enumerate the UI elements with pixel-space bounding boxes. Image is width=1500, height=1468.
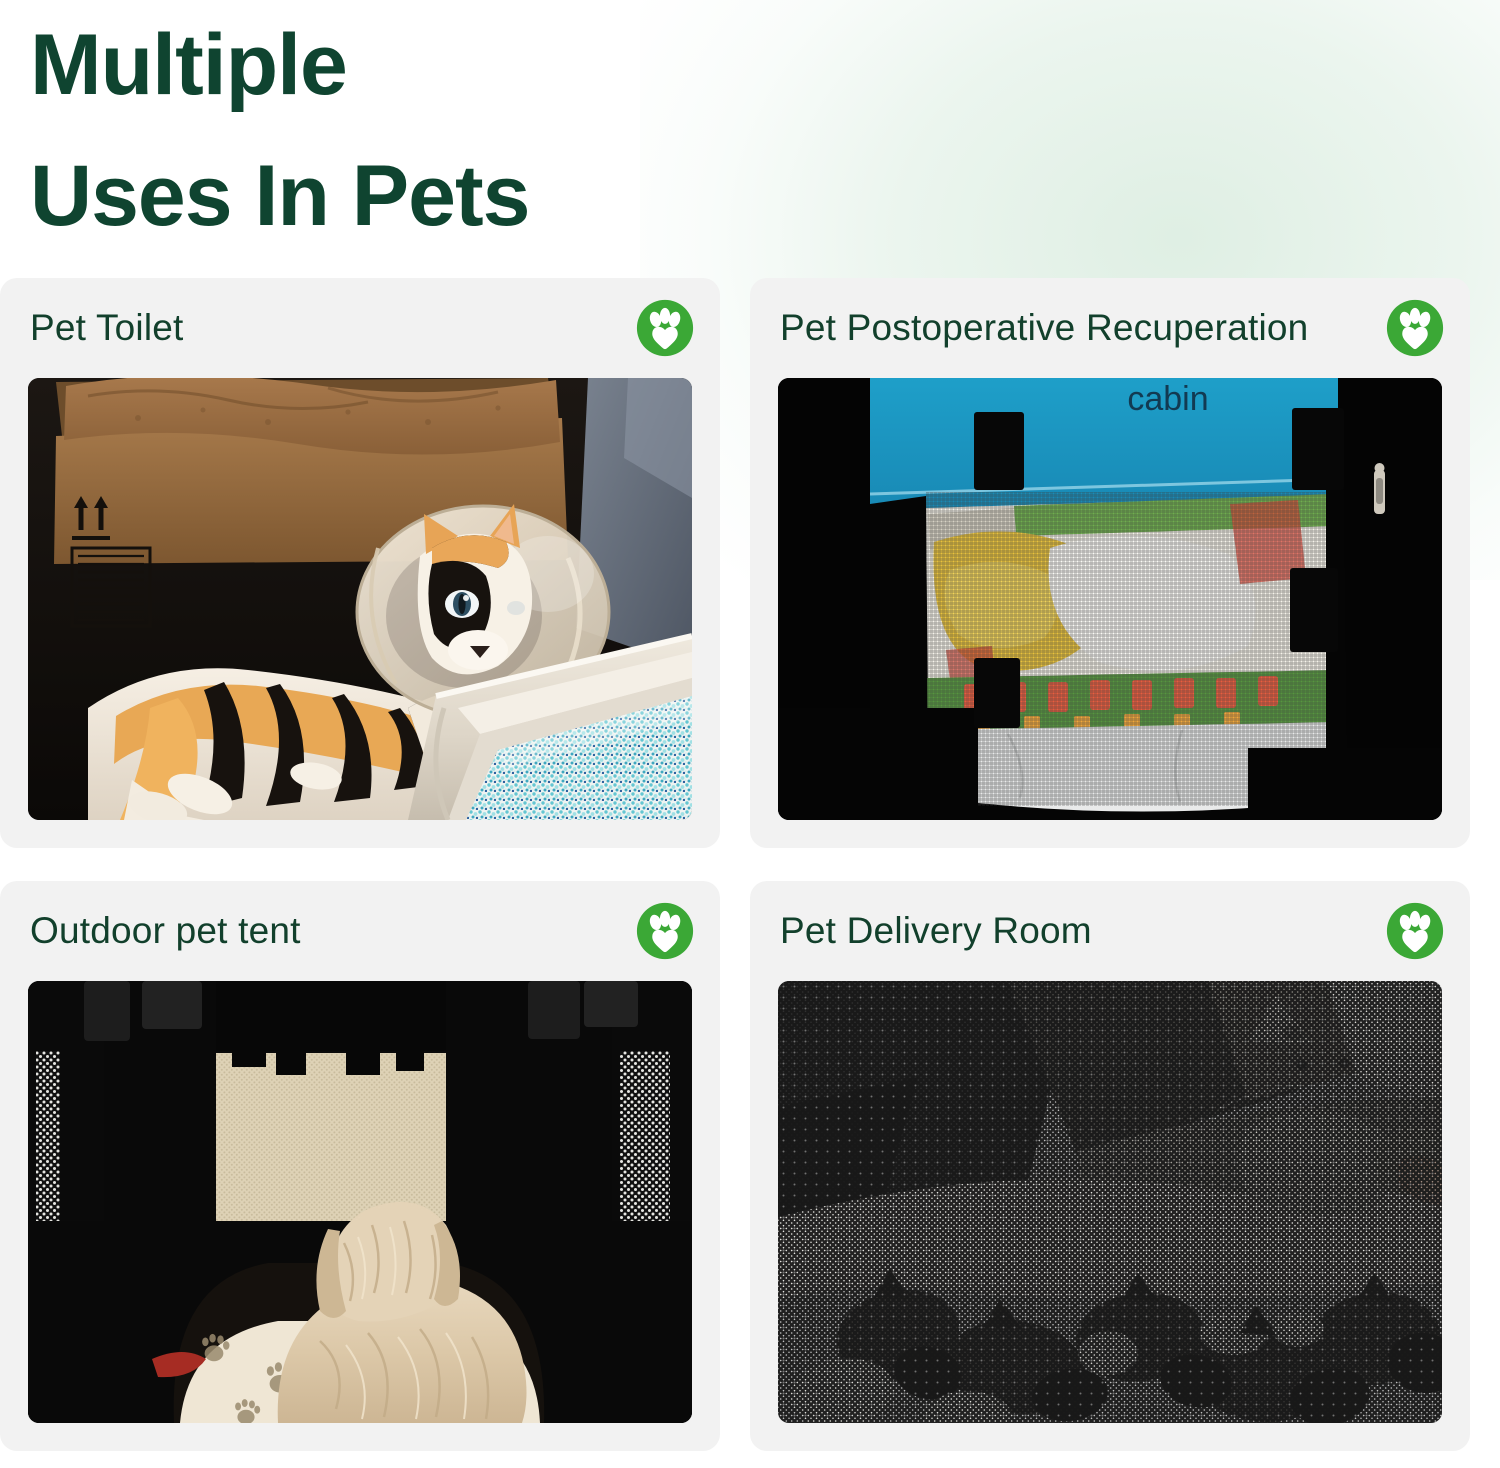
page-root: Multiple Uses In Pets Pet Toilet bbox=[0, 0, 1500, 1468]
use-case-card-pet-toilet[interactable]: Pet Toilet bbox=[0, 278, 720, 848]
card-title: Pet Toilet bbox=[30, 308, 184, 349]
card-header: Pet Postoperative Recuperation bbox=[750, 278, 1470, 378]
card-photo: cabin bbox=[778, 378, 1442, 820]
card-title: Pet Delivery Room bbox=[780, 911, 1092, 952]
use-case-card-pet-delivery-room[interactable]: Pet Delivery Room bbox=[750, 881, 1470, 1451]
use-case-grid: Pet Toilet bbox=[0, 278, 1500, 1451]
paw-icon bbox=[636, 902, 694, 960]
use-case-card-outdoor-pet-tent[interactable]: Outdoor pet tent bbox=[0, 881, 720, 1451]
card-header: Pet Toilet bbox=[0, 278, 720, 378]
card-photo bbox=[28, 378, 692, 820]
paw-icon bbox=[636, 299, 694, 357]
page-title: Multiple Uses In Pets bbox=[30, 0, 930, 261]
svg-text:cabin: cabin bbox=[1127, 380, 1208, 418]
card-photo bbox=[778, 981, 1442, 1423]
paw-icon bbox=[1386, 902, 1444, 960]
page-title-line-2: Uses In Pets bbox=[30, 131, 930, 262]
card-title: Pet Postoperative Recuperation bbox=[780, 308, 1308, 349]
card-photo bbox=[28, 981, 692, 1423]
card-title: Outdoor pet tent bbox=[30, 911, 301, 952]
paw-icon bbox=[1386, 299, 1444, 357]
use-case-card-postoperative-recuperation[interactable]: Pet Postoperative Recuperation bbox=[750, 278, 1470, 848]
card-header: Pet Delivery Room bbox=[750, 881, 1470, 981]
page-title-line-1: Multiple bbox=[30, 0, 930, 131]
card-header: Outdoor pet tent bbox=[0, 881, 720, 981]
